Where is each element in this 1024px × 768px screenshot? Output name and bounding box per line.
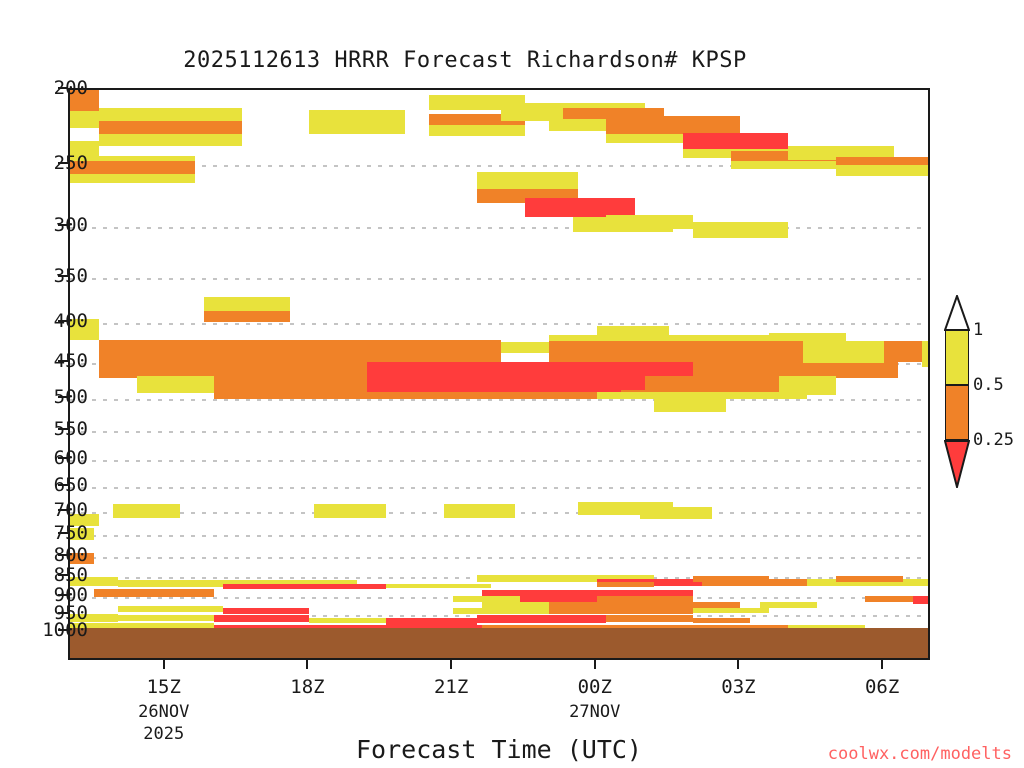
y-axis-tick-mark <box>58 224 68 226</box>
heatmap-cell <box>693 618 750 624</box>
heatmap-cell <box>922 341 930 367</box>
heatmap-cell <box>520 596 597 603</box>
heatmap-cell <box>99 108 243 121</box>
heatmap-cell <box>654 397 726 412</box>
x-axis-tick-label: 00Z <box>535 676 655 698</box>
heatmap-cell <box>865 596 913 603</box>
plot-area <box>68 88 930 660</box>
x-axis-date-label: 27NOV <box>515 702 675 722</box>
heatmap-cell <box>309 110 405 135</box>
heatmap-cell <box>606 615 692 622</box>
heatmap-cell <box>477 575 597 582</box>
x-axis-tick-mark <box>881 660 883 669</box>
x-axis-tick-label: 15Z <box>104 676 224 698</box>
heatmap-cell <box>453 608 549 614</box>
y-axis-tick-label: 550 <box>8 418 88 440</box>
heatmap-cell <box>683 133 788 149</box>
heatmap-cell <box>118 615 214 621</box>
y-axis-tick-mark <box>58 612 68 614</box>
heatmap-cell <box>204 297 290 310</box>
y-axis-tick-label: 650 <box>8 474 88 496</box>
heatmap-cell <box>118 606 223 612</box>
heatmap-cell <box>640 507 712 519</box>
heatmap-cell <box>314 504 386 518</box>
y-axis-tick-label: 450 <box>8 350 88 372</box>
heatmap-cells <box>70 90 928 658</box>
colorbar-segment <box>945 385 969 440</box>
y-axis-tick-mark <box>58 509 68 511</box>
y-axis-tick-mark <box>58 457 68 459</box>
y-axis-tick-label: 400 <box>8 310 88 332</box>
colorbar-tick-label: 1 <box>973 320 983 340</box>
heatmap-cell <box>113 504 180 518</box>
y-axis-tick-mark <box>58 594 68 596</box>
heatmap-cell <box>606 116 740 134</box>
heatmap-cell <box>99 121 243 135</box>
heatmap-cell <box>645 376 779 391</box>
x-axis-label: Forecast Time (UTC) <box>68 735 930 764</box>
heatmap-cell <box>204 311 290 322</box>
heatmap-cell <box>386 618 477 625</box>
y-axis-tick-mark <box>58 532 68 534</box>
x-axis-tick-mark <box>306 660 308 669</box>
heatmap-cell <box>223 584 386 589</box>
heatmap-cell <box>99 134 243 146</box>
y-axis-tick-mark <box>58 629 68 631</box>
heatmap-cell <box>214 615 310 622</box>
heatmap-cell <box>367 362 621 392</box>
heatmap-cell <box>223 608 309 614</box>
y-axis-tick-label: 500 <box>8 386 88 408</box>
y-axis-tick-mark <box>58 484 68 486</box>
heatmap-cell <box>70 111 99 128</box>
heatmap-cell <box>693 222 789 238</box>
chart-page: 2025112613 HRRR Forecast Richardson# KPS… <box>0 0 1024 768</box>
y-axis-tick-mark <box>58 87 68 89</box>
heatmap-cell <box>597 596 693 603</box>
terrain-ground <box>70 628 928 658</box>
y-axis-tick-mark <box>58 396 68 398</box>
chart-title: 2025112613 HRRR Forecast Richardson# KPS… <box>0 48 930 73</box>
heatmap-cell <box>836 576 903 582</box>
heatmap-cell <box>477 615 606 623</box>
y-axis-tick-mark <box>58 360 68 362</box>
y-axis-tick-label: 1000 <box>8 619 88 641</box>
y-axis-tick-label: 300 <box>8 214 88 236</box>
y-axis-tick-mark <box>58 275 68 277</box>
x-axis-tick-label: 18Z <box>247 676 367 698</box>
x-axis-tick-mark <box>163 660 165 669</box>
heatmap-cell <box>137 376 214 393</box>
x-axis-tick-label: 21Z <box>391 676 511 698</box>
colorbar-over-arrow-outline <box>944 295 970 331</box>
heatmap-cell <box>731 161 836 169</box>
colorbar-tick-label: 0.25 <box>973 430 1014 450</box>
y-axis-tick-label: 350 <box>8 265 88 287</box>
y-axis-tick-mark <box>58 320 68 322</box>
x-axis-date-label: 26NOV <box>84 702 244 722</box>
heatmap-cell <box>309 618 386 624</box>
colorbar-tick-label: 0.5 <box>973 375 1004 395</box>
x-axis-tick-label: 03Z <box>678 676 798 698</box>
y-axis-tick-label: 200 <box>8 77 88 99</box>
y-axis-tick-label: 800 <box>8 544 88 566</box>
heatmap-cell <box>693 576 770 582</box>
heatmap-cell <box>429 95 525 110</box>
heatmap-cell <box>693 608 770 614</box>
watermark: coolwx.com/modelts <box>828 744 1012 764</box>
colorbar-under-arrow-outline <box>944 440 970 488</box>
x-axis-tick-mark <box>737 660 739 669</box>
heatmap-cell <box>386 584 491 589</box>
y-axis-tick-label: 600 <box>8 447 88 469</box>
heatmap-cell <box>836 165 930 176</box>
heatmap-cell <box>597 326 669 338</box>
heatmap-cell <box>70 161 195 174</box>
heatmap-cell <box>913 596 930 604</box>
heatmap-cell <box>94 589 214 597</box>
heatmap-cell <box>70 174 195 183</box>
colorbar: 10.50.25 <box>945 330 969 440</box>
heatmap-cell <box>453 596 520 603</box>
x-axis-tick-mark <box>450 660 452 669</box>
y-axis-tick-mark <box>58 554 68 556</box>
heatmap-cell <box>429 125 525 135</box>
heatmap-cell <box>606 215 692 229</box>
y-axis-tick-mark <box>58 162 68 164</box>
y-axis-tick-label: 700 <box>8 499 88 521</box>
x-axis-tick-mark <box>594 660 596 669</box>
heatmap-cell <box>836 157 930 165</box>
heatmap-cell <box>501 342 549 353</box>
heatmap-cell <box>769 333 846 340</box>
heatmap-cell <box>444 504 516 518</box>
y-axis-tick-mark <box>58 574 68 576</box>
heatmap-cell <box>477 172 578 189</box>
heatmap-cell <box>549 608 693 614</box>
y-axis-tick-label: 250 <box>8 152 88 174</box>
x-axis-tick-label: 06Z <box>822 676 942 698</box>
y-axis-tick-label: 750 <box>8 522 88 544</box>
heatmap-cell <box>597 582 654 587</box>
colorbar-segment <box>945 330 969 385</box>
y-axis-tick-mark <box>58 428 68 430</box>
heatmap-cell <box>803 341 884 363</box>
